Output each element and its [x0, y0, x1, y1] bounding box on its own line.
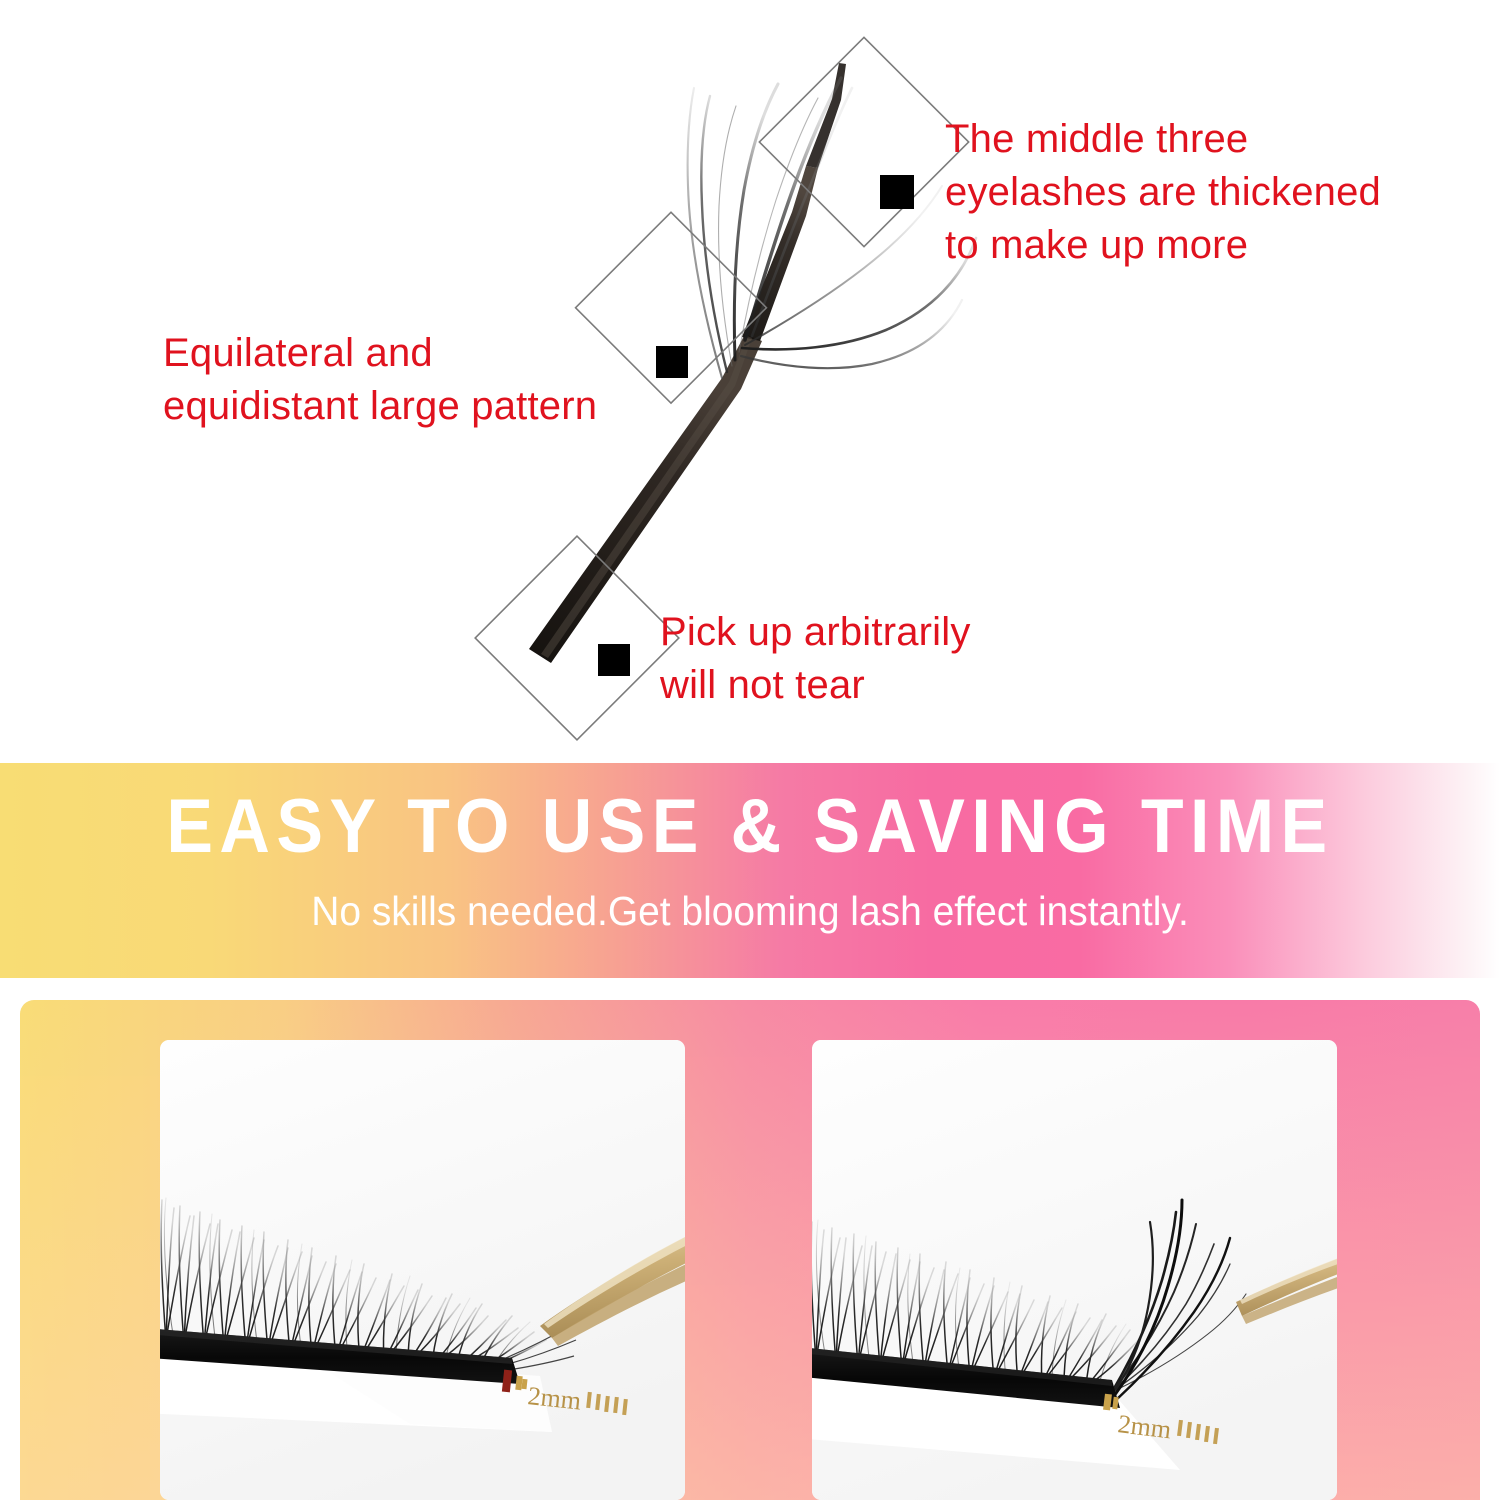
photo-panel: 2mm: [20, 1000, 1480, 1500]
promo-banner: EASY TO USE & SAVING TIME No skills need…: [0, 763, 1500, 978]
top-illustration-section: The middle three eyelashes are thickened…: [0, 0, 1500, 763]
diamond-marker-square: [656, 346, 688, 378]
photo-lash-strip-tweezer: 2mm: [160, 1040, 685, 1500]
callout-text-no-tear: Pick up arbitrarily will not tear: [660, 606, 971, 712]
photo-left-graphic: 2mm: [160, 1040, 685, 1500]
banner-subtitle: No skills needed.Get blooming lash effec…: [38, 888, 1463, 935]
diamond-marker-square: [598, 644, 630, 676]
callout-text-equilateral: Equilateral and equidistant large patter…: [163, 327, 597, 433]
banner-title: EASY TO USE & SAVING TIME: [60, 789, 1440, 865]
diamond-callout-no-tear: [475, 536, 679, 740]
photo-lash-strip-fan: 2mm: [812, 1040, 1337, 1500]
strip-measure-label: 2mm: [526, 1381, 582, 1415]
diamond-marker-square: [880, 175, 914, 209]
photo-right-graphic: 2mm: [812, 1040, 1337, 1500]
callout-text-thickened: The middle three eyelashes are thickened…: [945, 113, 1381, 271]
